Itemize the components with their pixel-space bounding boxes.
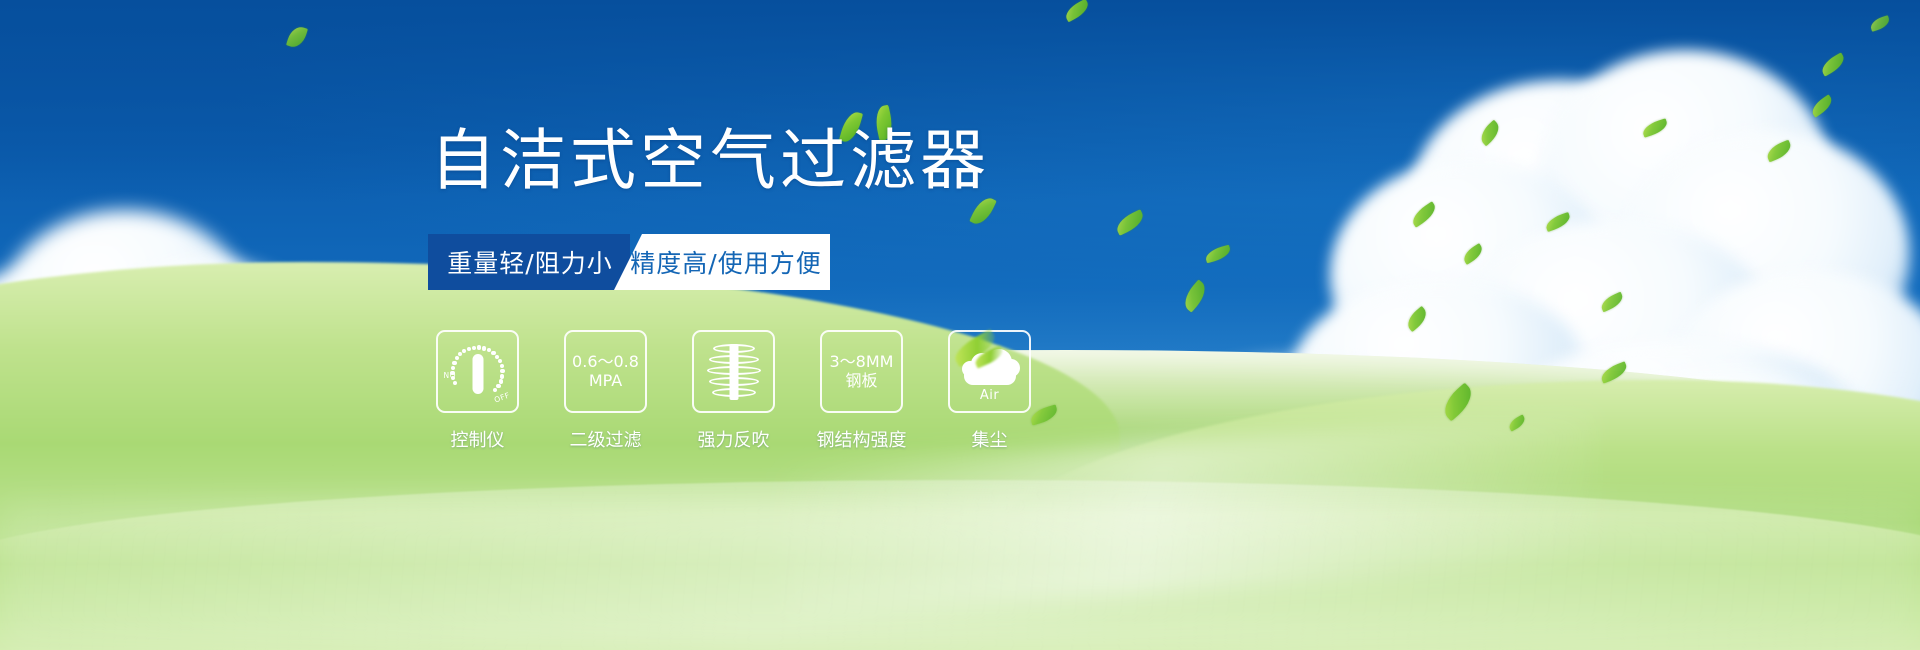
feature-label-steel: 钢结构强度 bbox=[817, 426, 907, 452]
cloud-base bbox=[964, 369, 1016, 385]
feature-item-steel[interactable]: 3～8MM 钢板 钢结构强度 bbox=[820, 330, 903, 452]
gauge-tick-dot bbox=[451, 376, 455, 380]
pressure-line-2: MPA bbox=[572, 372, 639, 391]
banner-content: 自洁式空气过滤器 重量轻/阻力小 精度高/使用方便 NO OFF 控制仪 bbox=[0, 0, 1920, 650]
disc-4 bbox=[709, 377, 759, 386]
gauge-tick-dot bbox=[498, 359, 502, 363]
badge-lightweight-lowresistance[interactable]: 重量轻/阻力小 bbox=[428, 234, 630, 290]
disc-5 bbox=[712, 388, 756, 397]
gauge-tick-dot bbox=[477, 345, 481, 349]
feature-box-pressure: 0.6～0.8 MPA bbox=[564, 330, 647, 413]
steel-plate-text-icon: 3～8MM 钢板 bbox=[830, 353, 894, 391]
badge-group: 重量轻/阻力小 精度高/使用方便 bbox=[428, 234, 830, 290]
gauge-tick-dot bbox=[496, 384, 500, 388]
feature-label-blowback: 强力反吹 bbox=[698, 426, 770, 452]
feature-label-controller: 控制仪 bbox=[451, 426, 505, 452]
feature-item-dust[interactable]: Air 集尘 bbox=[948, 330, 1031, 452]
gauge-tick-dot bbox=[500, 369, 504, 373]
gauge-tick-dot bbox=[482, 346, 486, 350]
gauge-tick-dot bbox=[500, 364, 504, 368]
feature-box-blowback bbox=[692, 330, 775, 413]
page-title: 自洁式空气过滤器 bbox=[430, 128, 990, 194]
gauge-tick-dot bbox=[458, 352, 462, 356]
gauge-tick-dot bbox=[472, 346, 476, 350]
gauge-off-label: OFF bbox=[493, 390, 511, 404]
steel-line-2: 钢板 bbox=[830, 372, 894, 391]
feature-item-blowback[interactable]: 强力反吹 bbox=[692, 330, 775, 452]
pressure-text-icon: 0.6～0.8 MPA bbox=[572, 353, 639, 391]
gauge-tick-dot bbox=[462, 349, 466, 353]
feature-item-controller[interactable]: NO OFF 控制仪 bbox=[436, 330, 519, 452]
gauge-tick-dot bbox=[455, 356, 459, 360]
hero-banner: 自洁式空气过滤器 重量轻/阻力小 精度高/使用方便 NO OFF 控制仪 bbox=[0, 0, 1920, 650]
gauge-tick-dot bbox=[453, 381, 457, 385]
feature-box-dust: Air bbox=[948, 330, 1031, 413]
gauge-tick-dot bbox=[452, 361, 456, 365]
gauge-controller-icon: NO OFF bbox=[445, 341, 511, 403]
gauge-tick-dot bbox=[499, 379, 503, 383]
gauge-tick-dot bbox=[493, 388, 497, 392]
air-label: Air bbox=[958, 388, 1022, 403]
gauge-tick-dot bbox=[467, 347, 471, 351]
disc-3 bbox=[707, 366, 761, 375]
gauge-tick-dot bbox=[500, 374, 504, 378]
stacked-discs-icon bbox=[705, 342, 763, 402]
gauge-tick-dot bbox=[450, 371, 454, 375]
feature-label-pressure: 二级过滤 bbox=[570, 426, 642, 452]
feature-list: NO OFF 控制仪 0.6～0.8 MPA 二级过滤 bbox=[436, 330, 1031, 452]
pressure-line-1: 0.6～0.8 bbox=[572, 353, 639, 372]
gauge-needle bbox=[472, 354, 483, 394]
feature-box-steel: 3～8MM 钢板 bbox=[820, 330, 903, 413]
gauge-tick-dot bbox=[451, 366, 455, 370]
disc-2 bbox=[709, 355, 759, 364]
air-cloud-icon: Air bbox=[958, 343, 1022, 401]
feature-label-dust: 集尘 bbox=[972, 426, 1008, 452]
feature-box-controller: NO OFF bbox=[436, 330, 519, 413]
steel-line-1: 3～8MM bbox=[830, 353, 894, 372]
feature-item-pressure[interactable]: 0.6～0.8 MPA 二级过滤 bbox=[564, 330, 647, 452]
badge-precision-easyuse[interactable]: 精度高/使用方便 bbox=[614, 234, 830, 290]
disc-1 bbox=[713, 344, 755, 353]
